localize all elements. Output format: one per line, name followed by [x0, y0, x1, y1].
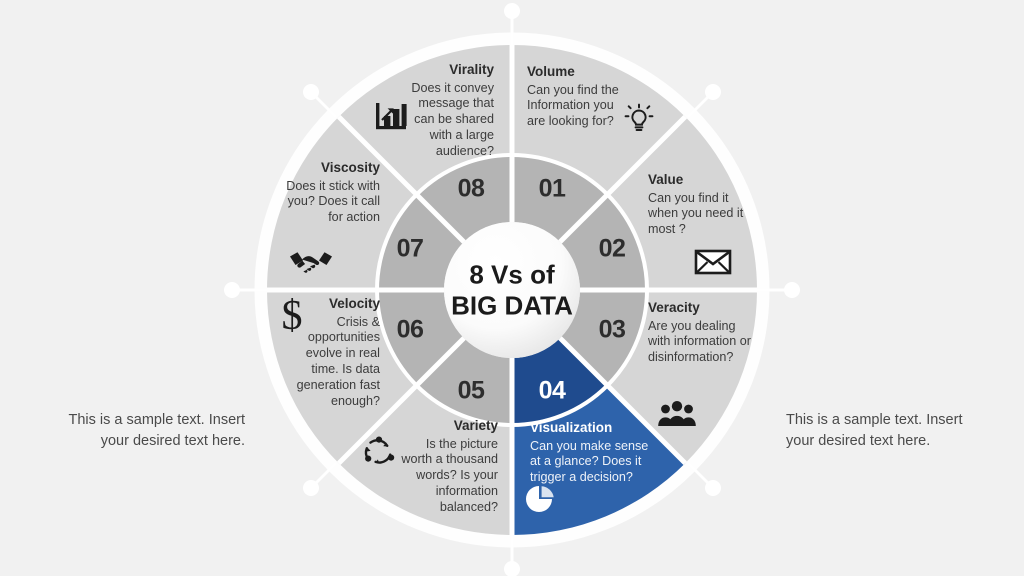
handshake-icon	[289, 248, 333, 274]
segment-title-03: Veracity	[648, 300, 752, 316]
segment-label-07[interactable]: Viscosity Does it stick with you? Does i…	[278, 160, 380, 226]
segment-number-03: 03	[599, 316, 626, 345]
segment-label-03[interactable]: Veracity Are you dealing with informatio…	[648, 300, 752, 366]
center-title-line1: 8 Vs of	[451, 259, 573, 290]
segment-title-08: Virality	[396, 62, 494, 78]
segment-body-02: Can you find it when you need it most ?	[648, 191, 748, 239]
pie-chart-icon	[523, 483, 557, 517]
segment-title-01: Volume	[527, 64, 627, 80]
side-note-left: This is a sample text. Insert your desir…	[60, 410, 245, 451]
segment-label-04[interactable]: Visualization Can you make sense at a gl…	[530, 420, 658, 486]
cycle-arrows-icon	[361, 434, 397, 470]
segment-label-01[interactable]: Volume Can you find the Information you …	[527, 64, 627, 130]
segment-number-05: 05	[458, 377, 485, 406]
segment-body-07: Does it stick with you? Does it call for…	[278, 179, 380, 227]
segment-label-05[interactable]: Variety Is the picture worth a thousand …	[392, 418, 498, 516]
segment-title-07: Viscosity	[278, 160, 380, 176]
bar-chart-up-icon	[373, 99, 409, 133]
people-group-icon	[657, 400, 697, 428]
center-title-line2: BIG DATA	[451, 290, 573, 321]
segment-number-08: 08	[458, 175, 485, 204]
segment-body-01: Can you find the Information you are loo…	[527, 83, 627, 131]
side-note-right: This is a sample text. Insert your desir…	[786, 410, 971, 451]
segment-label-08[interactable]: Virality Does it convey message that can…	[396, 62, 494, 160]
segment-title-02: Value	[648, 172, 748, 188]
segment-number-06: 06	[397, 316, 424, 345]
lightbulb-icon	[622, 102, 656, 136]
svg-text:$: $	[282, 293, 303, 339]
segment-body-08: Does it convey message that can be share…	[396, 81, 494, 160]
segment-body-03: Are you dealing with information or disi…	[648, 319, 752, 367]
segment-number-04: 04	[539, 377, 566, 406]
envelope-icon	[694, 248, 732, 276]
center-title: 8 Vs of BIG DATA	[451, 259, 573, 320]
segment-label-02[interactable]: Value Can you find it when you need it m…	[648, 172, 748, 238]
segment-number-02: 02	[599, 235, 626, 264]
segment-title-05: Variety	[392, 418, 498, 434]
segment-number-01: 01	[539, 175, 566, 204]
segment-title-04: Visualization	[530, 420, 658, 436]
slide-canvas: 01 02 03 04 05 06 07 08 8 Vs of BIG DATA…	[0, 0, 1024, 576]
dollar-sign-icon: $	[277, 293, 307, 339]
segment-body-04: Can you make sense at a glance? Does it …	[530, 439, 658, 487]
segment-body-05: Is the picture worth a thousand words? I…	[392, 437, 498, 516]
segment-number-07: 07	[397, 235, 424, 264]
